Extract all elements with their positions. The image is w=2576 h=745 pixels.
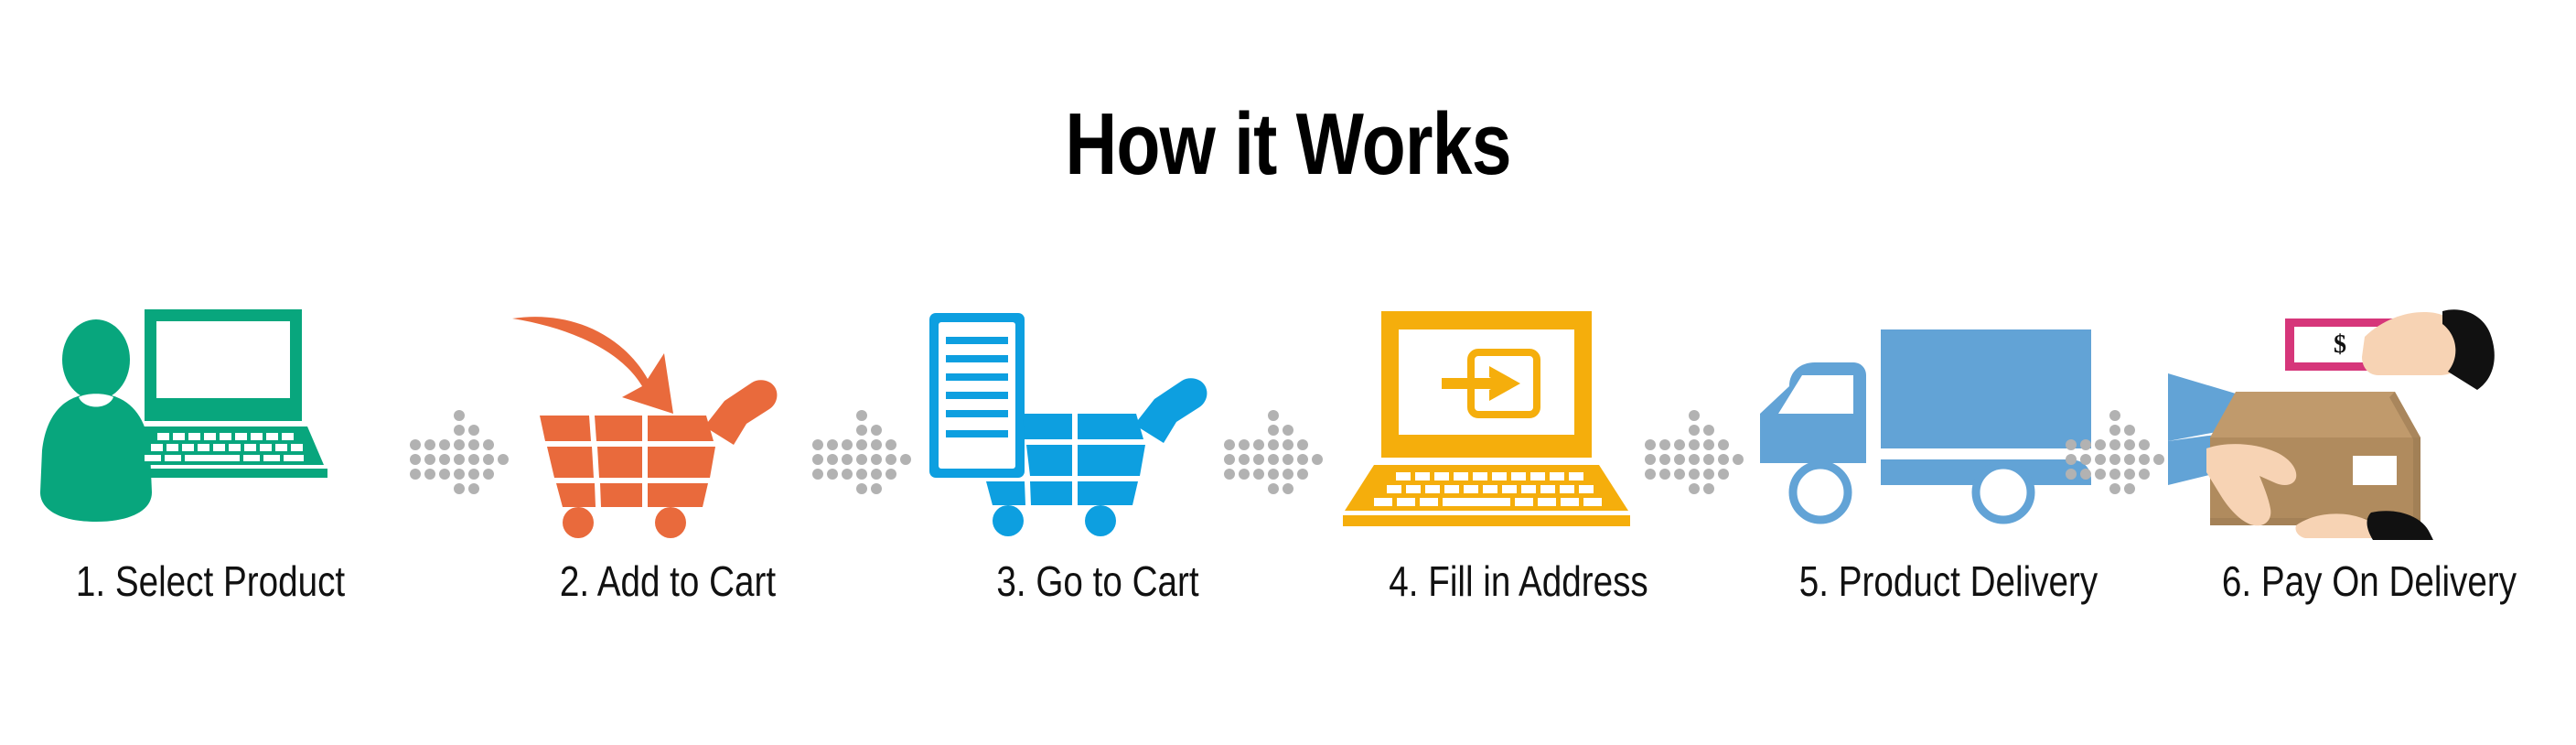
- how-it-works-infographic: How it Works: [0, 0, 2576, 745]
- person-at-laptop-icon: [9, 302, 412, 540]
- dotted-arrow-right-icon: [1637, 403, 1747, 494]
- step-3-label: 3. Go to Cart: [944, 558, 1251, 604]
- step-6-pay-on-delivery[interactable]: $: [2168, 302, 2571, 686]
- step-2-icon-box: [485, 302, 851, 540]
- step-4-fill-in-address[interactable]: 4. Fill in Address: [1326, 302, 1711, 686]
- steps-row: 1. Select Product: [0, 302, 2576, 686]
- step-5-label: 5. Product Delivery: [1779, 558, 2118, 604]
- separator-arrow-2: [805, 403, 915, 494]
- step-1-select-product[interactable]: 1. Select Product: [9, 302, 412, 686]
- dollar-symbol: $: [2334, 330, 2346, 359]
- dotted-arrow-right-icon: [402, 403, 512, 494]
- cart-with-arrow-icon: [485, 302, 851, 540]
- separator-arrow-1: [402, 403, 512, 494]
- step-1-icon-box: [9, 302, 412, 540]
- step-6-label: 6. Pay On Delivery: [2200, 558, 2538, 604]
- page-title: How it Works: [231, 101, 2344, 189]
- step-2-label: 2. Add to Cart: [514, 558, 821, 604]
- step-5-product-delivery[interactable]: 5. Product Delivery: [1747, 302, 2150, 686]
- step-6-icon-box: $: [2168, 302, 2571, 540]
- dotted-arrow-right-icon: [1217, 403, 1326, 494]
- step-4-label: 4. Fill in Address: [1358, 558, 1680, 604]
- step-2-add-to-cart[interactable]: 2. Add to Cart: [485, 302, 851, 686]
- dotted-arrow-right-icon: [2058, 403, 2168, 494]
- step-3-go-to-cart[interactable]: 3. Go to Cart: [915, 302, 1281, 686]
- hands-exchanging-box-and-money-icon: $: [2168, 302, 2571, 540]
- dotted-arrow-right-icon: [805, 403, 915, 494]
- separator-arrow-5: [2058, 403, 2168, 494]
- step-1-label: 1. Select Product: [41, 558, 380, 604]
- separator-arrow-3: [1217, 403, 1326, 494]
- separator-arrow-4: [1637, 403, 1747, 494]
